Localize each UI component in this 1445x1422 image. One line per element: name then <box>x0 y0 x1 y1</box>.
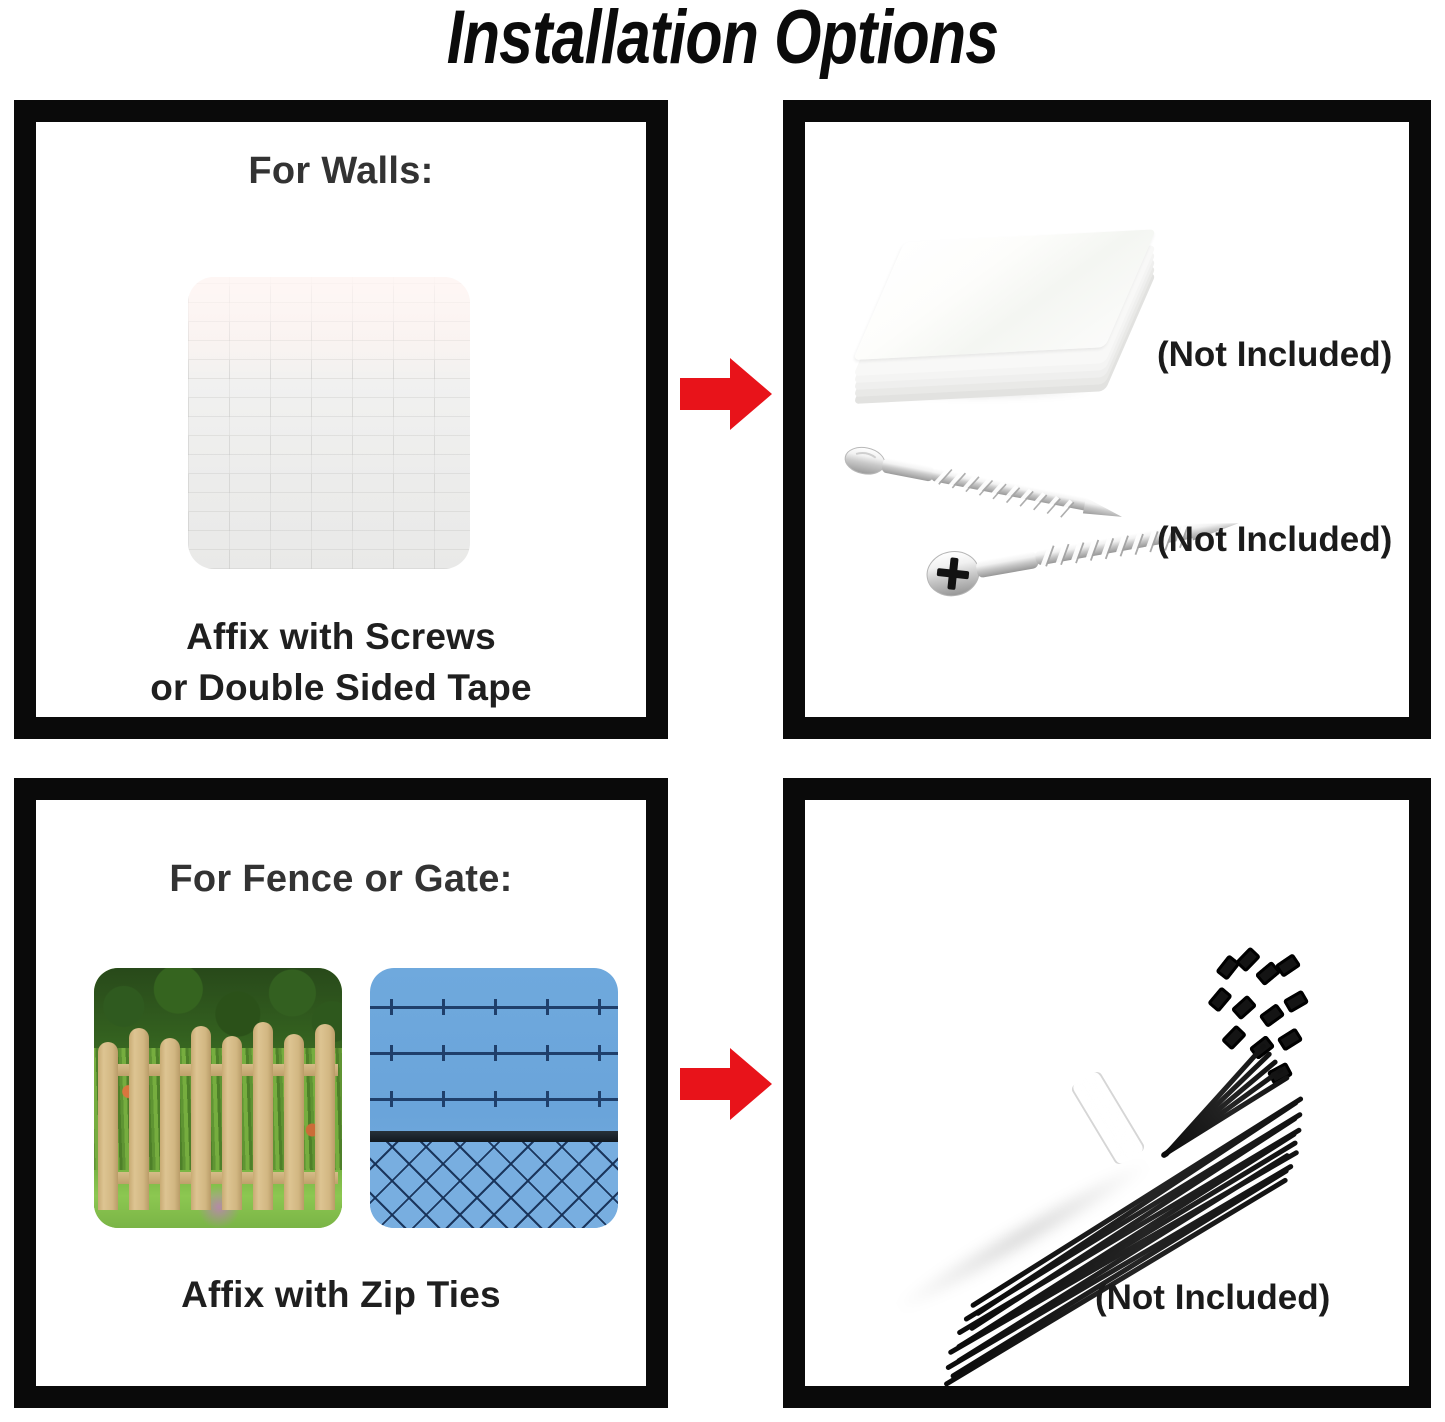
brick-highlight-layer <box>188 277 470 569</box>
panel-for-walls: For Walls: Affix with Screws or Double S… <box>14 100 668 739</box>
panel-walls-caption: Affix with Screws or Double Sided Tape <box>36 612 646 713</box>
zip-tie-head <box>1283 990 1310 1014</box>
double-sided-tape-stack-image <box>853 234 1123 404</box>
panel-wall-hardware: (Not Included) <box>783 100 1431 739</box>
zip-tie-head <box>1231 995 1257 1021</box>
caption-line-1: Affix with Zip Ties <box>36 1270 646 1321</box>
barbed-wire-barbs <box>370 1045 618 1061</box>
zip-tie-head <box>1259 1003 1286 1028</box>
black-zip-tie-bundle-image <box>865 922 1335 1312</box>
fence-picket <box>315 1024 335 1210</box>
wooden-picket-fence-image <box>94 968 342 1228</box>
zip-tie <box>970 1096 1304 1309</box>
fence-picket <box>160 1038 180 1210</box>
panel-for-fence-or-gate: For Fence or Gate: <box>14 778 668 1408</box>
zip-tie-head <box>1277 1027 1304 1051</box>
fence-picket <box>253 1022 273 1210</box>
panel-fence-hardware: (Not Included) <box>783 778 1431 1408</box>
panel-fence-heading: For Fence or Gate: <box>36 858 646 901</box>
screws-not-included-label: (Not Included) <box>1157 520 1392 560</box>
zip-tie-head <box>1221 1024 1247 1050</box>
page-title: Installation Options <box>145 0 1301 78</box>
chain-link-barbed-wire-fence-image <box>370 968 618 1228</box>
white-brick-wall-image <box>188 277 470 569</box>
right-arrow-icon <box>678 1045 774 1123</box>
chain-link-mesh <box>370 1142 618 1228</box>
picket-fence-scene <box>94 968 342 1228</box>
tape-not-included-label: (Not Included) <box>1157 335 1392 375</box>
caption-line-1: Affix with Screws <box>36 612 646 663</box>
zip-ties-not-included-label: (Not Included) <box>1095 1278 1330 1318</box>
fence-picket <box>222 1036 242 1210</box>
fence-picket <box>191 1026 211 1210</box>
fence-picket <box>284 1034 304 1210</box>
barbed-wire-barbs <box>370 1091 618 1107</box>
caption-line-2: or Double Sided Tape <box>36 663 646 714</box>
wood-screw-image <box>843 442 1173 532</box>
zip-tie-binding-band <box>1070 1070 1147 1166</box>
right-arrow-icon <box>678 355 774 433</box>
panel-fence-caption: Affix with Zip Ties <box>36 1270 646 1321</box>
fence-picket <box>98 1042 118 1210</box>
zip-tie-head <box>1215 954 1240 981</box>
zip-tie-head <box>1207 986 1233 1012</box>
pickets-group <box>96 1020 340 1210</box>
fence-picket <box>129 1028 149 1210</box>
zip-tie-head <box>1235 946 1261 972</box>
panel-walls-heading: For Walls: <box>36 150 646 193</box>
barbed-wire-barbs <box>370 999 618 1015</box>
fence-top-rail <box>370 1131 618 1142</box>
chain-link-scene <box>370 968 618 1228</box>
